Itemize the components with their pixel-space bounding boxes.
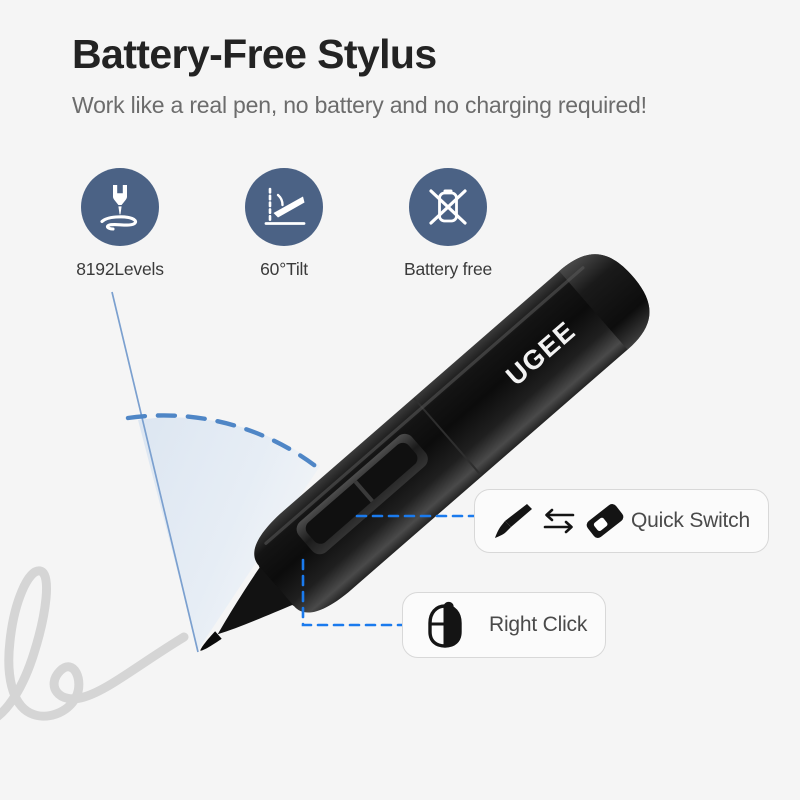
header: Battery-Free Stylus Work like a real pen… (72, 32, 732, 120)
page-subtitle: Work like a real pen, no battery and no … (72, 90, 662, 121)
page-title: Battery-Free Stylus (72, 32, 732, 78)
callout-label: Right Click (489, 613, 587, 637)
mouse-right-button-icon (425, 601, 465, 649)
paint-brush-icon (493, 501, 535, 541)
callout-quick-switch[interactable]: Quick Switch (474, 489, 769, 553)
swap-arrows-icon (539, 504, 579, 538)
eraser-icon (583, 500, 627, 542)
callout-right-click[interactable]: Right Click (402, 592, 606, 658)
callout-label: Quick Switch (631, 509, 750, 533)
